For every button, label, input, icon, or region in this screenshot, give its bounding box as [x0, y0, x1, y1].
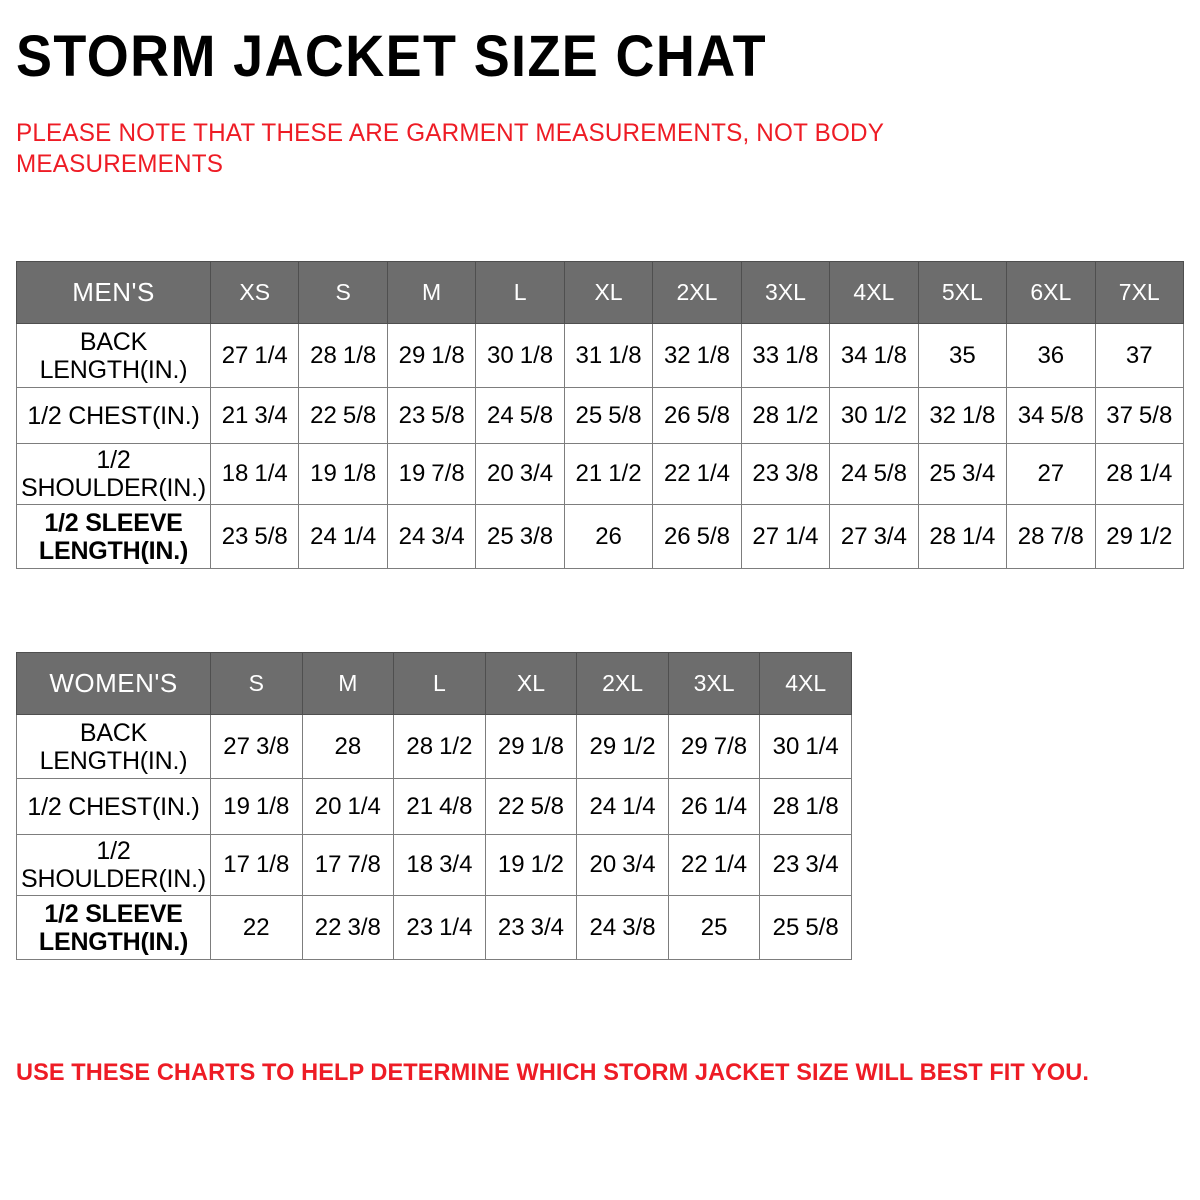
- womens-size-table: WOMEN'SSMLXL2XL3XL4XL BACK LENGTH(IN.)27…: [16, 652, 852, 960]
- measurement-cell: 271/4: [211, 324, 299, 388]
- measurement-cell: 235/8: [387, 388, 475, 444]
- column-header-3xl: 3XL: [741, 262, 829, 324]
- measurement-cell: 201/4: [302, 779, 394, 835]
- table-row: 1/2 CHEST(IN.)213/4225/8235/8245/8255/82…: [17, 388, 1184, 444]
- measurement-cell: 177/8: [302, 835, 394, 896]
- measurement-cell: 221/4: [653, 444, 741, 505]
- measurement-cell: 181/4: [211, 444, 299, 505]
- row-label: 1/2 CHEST(IN.): [17, 388, 211, 444]
- row-label: 1/2 SLEEVE LENGTH(IN.): [17, 505, 211, 569]
- measurement-cell: 311/8: [564, 324, 652, 388]
- measurement-cell: 235/8: [211, 505, 299, 569]
- measurement-cell: 26: [564, 505, 652, 569]
- column-header-4xl: 4XL: [760, 653, 852, 715]
- measurement-cell: 241/4: [299, 505, 387, 569]
- size-chart-page: STORM JACKET SIZE CHAT PLEASE NOTE THAT …: [0, 0, 1200, 1200]
- column-header-s: S: [211, 653, 303, 715]
- row-label: 1/2 SHOULDER(IN.): [17, 835, 211, 896]
- garment-measurement-note: PLEASE NOTE THAT THESE ARE GARMENT MEASU…: [16, 118, 947, 180]
- measurement-cell: 291/2: [1095, 505, 1183, 569]
- row-label: 1/2 SHOULDER(IN.): [17, 444, 211, 505]
- measurement-cell: 22: [211, 896, 303, 960]
- table-row: 1/2 SLEEVE LENGTH(IN.)22223/8231/4233/42…: [17, 896, 852, 960]
- measurement-cell: 301/4: [760, 715, 852, 779]
- measurement-cell: 345/8: [1007, 388, 1095, 444]
- column-header-xl: XL: [564, 262, 652, 324]
- table-row: 1/2 SHOULDER(IN.)171/8177/8183/4191/2203…: [17, 835, 852, 896]
- row-label: BACK LENGTH(IN.): [17, 715, 211, 779]
- measurement-cell: 171/8: [211, 835, 303, 896]
- measurement-cell: 197/8: [387, 444, 475, 505]
- mens-table-body: BACK LENGTH(IN.)271/4281/8291/8301/8311/…: [17, 324, 1184, 569]
- measurement-cell: 291/8: [485, 715, 577, 779]
- measurement-cell: 245/8: [476, 388, 564, 444]
- measurement-cell: 35: [918, 324, 1006, 388]
- column-header-2xl: 2XL: [653, 262, 741, 324]
- mens-corner-header: MEN'S: [17, 262, 211, 324]
- measurement-cell: 321/8: [653, 324, 741, 388]
- measurement-cell: 321/8: [918, 388, 1006, 444]
- column-header-m: M: [302, 653, 394, 715]
- measurement-cell: 281/8: [299, 324, 387, 388]
- measurement-cell: 221/4: [668, 835, 760, 896]
- measurement-cell: 36: [1007, 324, 1095, 388]
- column-header-xs: XS: [211, 262, 299, 324]
- table-row: 1/2 SHOULDER(IN.)181/4191/8197/8203/4211…: [17, 444, 1184, 505]
- column-header-3xl: 3XL: [668, 653, 760, 715]
- measurement-cell: 203/4: [476, 444, 564, 505]
- table-row: BACK LENGTH(IN.)271/4281/8291/8301/8311/…: [17, 324, 1184, 388]
- row-label: BACK LENGTH(IN.): [17, 324, 211, 388]
- mens-size-table: MEN'SXSSMLXL2XL3XL4XL5XL6XL7XL BACK LENG…: [16, 261, 1184, 569]
- measurement-cell: 253/8: [476, 505, 564, 569]
- measurement-cell: 331/8: [741, 324, 829, 388]
- measurement-cell: 281/2: [741, 388, 829, 444]
- column-header-6xl: 6XL: [1007, 262, 1095, 324]
- column-header-4xl: 4XL: [830, 262, 918, 324]
- column-header-l: L: [394, 653, 486, 715]
- column-header-2xl: 2XL: [577, 653, 669, 715]
- measurement-cell: 271/4: [741, 505, 829, 569]
- measurement-cell: 213/4: [211, 388, 299, 444]
- measurement-cell: 273/4: [830, 505, 918, 569]
- measurement-cell: 225/8: [299, 388, 387, 444]
- measurement-cell: 265/8: [653, 388, 741, 444]
- measurement-cell: 301/2: [830, 388, 918, 444]
- measurement-cell: 25: [668, 896, 760, 960]
- column-header-xl: XL: [485, 653, 577, 715]
- measurement-cell: 375/8: [1095, 388, 1183, 444]
- womens-header-row: WOMEN'SSMLXL2XL3XL4XL: [17, 653, 852, 715]
- measurement-cell: 301/8: [476, 324, 564, 388]
- measurement-cell: 191/8: [299, 444, 387, 505]
- measurement-cell: 297/8: [668, 715, 760, 779]
- measurement-cell: 253/4: [918, 444, 1006, 505]
- measurement-cell: 233/4: [760, 835, 852, 896]
- measurement-cell: 241/4: [577, 779, 669, 835]
- womens-corner-header: WOMEN'S: [17, 653, 211, 715]
- measurement-cell: 223/8: [302, 896, 394, 960]
- measurement-cell: 183/4: [394, 835, 486, 896]
- measurement-cell: 291/2: [577, 715, 669, 779]
- measurement-cell: 243/8: [577, 896, 669, 960]
- measurement-cell: 203/4: [577, 835, 669, 896]
- measurement-cell: 287/8: [1007, 505, 1095, 569]
- measurement-cell: 28: [302, 715, 394, 779]
- measurement-cell: 231/4: [394, 896, 486, 960]
- row-label: 1/2 SLEEVE LENGTH(IN.): [17, 896, 211, 960]
- measurement-cell: 265/8: [653, 505, 741, 569]
- measurement-cell: 245/8: [830, 444, 918, 505]
- measurement-cell: 341/8: [830, 324, 918, 388]
- measurement-cell: 255/8: [564, 388, 652, 444]
- womens-table-body: BACK LENGTH(IN.)273/828281/2291/8291/229…: [17, 715, 852, 960]
- column-header-7xl: 7XL: [1095, 262, 1183, 324]
- measurement-cell: 191/2: [485, 835, 577, 896]
- womens-table-header: WOMEN'SSMLXL2XL3XL4XL: [17, 653, 852, 715]
- measurement-cell: 27: [1007, 444, 1095, 505]
- measurement-cell: 37: [1095, 324, 1183, 388]
- column-header-5xl: 5XL: [918, 262, 1006, 324]
- measurement-cell: 281/8: [760, 779, 852, 835]
- table-row: BACK LENGTH(IN.)273/828281/2291/8291/229…: [17, 715, 852, 779]
- table-row: 1/2 SLEEVE LENGTH(IN.)235/8241/4243/4253…: [17, 505, 1184, 569]
- measurement-cell: 281/2: [394, 715, 486, 779]
- measurement-cell: 291/8: [387, 324, 475, 388]
- column-header-m: M: [387, 262, 475, 324]
- measurement-cell: 191/8: [211, 779, 303, 835]
- measurement-cell: 233/4: [485, 896, 577, 960]
- measurement-cell: 281/4: [1095, 444, 1183, 505]
- measurement-cell: 255/8: [760, 896, 852, 960]
- usage-instruction-note: USE THESE CHARTS TO HELP DETERMINE WHICH…: [16, 1058, 1153, 1088]
- page-title: STORM JACKET SIZE CHAT: [16, 26, 767, 88]
- row-label: 1/2 CHEST(IN.): [17, 779, 211, 835]
- column-header-s: S: [299, 262, 387, 324]
- mens-table-header: MEN'SXSSMLXL2XL3XL4XL5XL6XL7XL: [17, 262, 1184, 324]
- measurement-cell: 214/8: [394, 779, 486, 835]
- measurement-cell: 281/4: [918, 505, 1006, 569]
- measurement-cell: 225/8: [485, 779, 577, 835]
- mens-header-row: MEN'SXSSMLXL2XL3XL4XL5XL6XL7XL: [17, 262, 1184, 324]
- measurement-cell: 243/4: [387, 505, 475, 569]
- column-header-l: L: [476, 262, 564, 324]
- measurement-cell: 211/2: [564, 444, 652, 505]
- table-row: 1/2 CHEST(IN.)191/8201/4214/8225/8241/42…: [17, 779, 852, 835]
- measurement-cell: 233/8: [741, 444, 829, 505]
- measurement-cell: 273/8: [211, 715, 303, 779]
- measurement-cell: 261/4: [668, 779, 760, 835]
